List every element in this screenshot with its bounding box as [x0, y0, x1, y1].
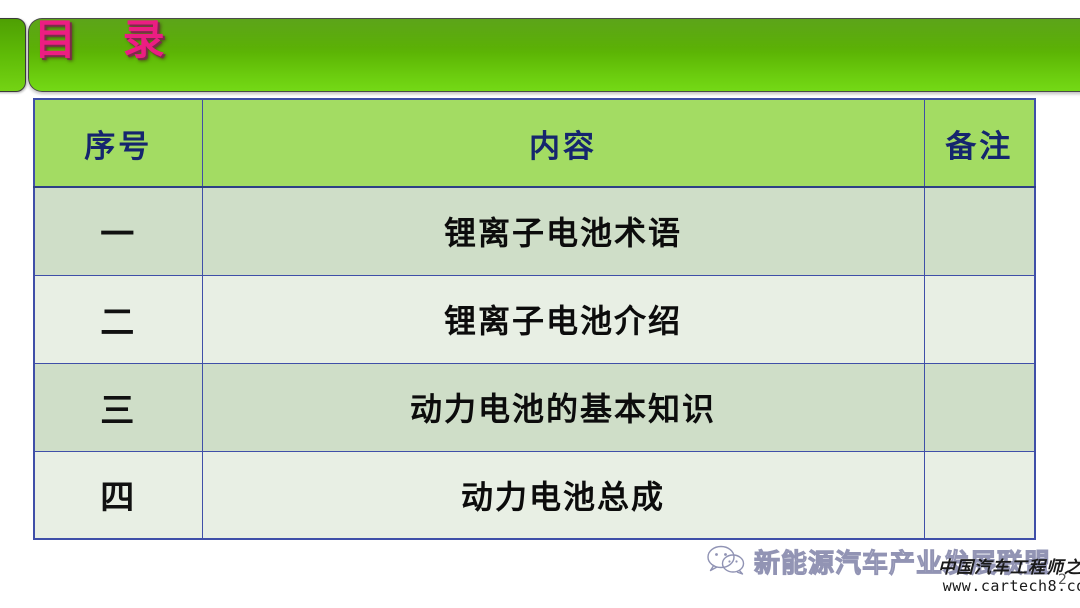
row-index: 一	[34, 187, 202, 275]
header-cell-index: 序号	[34, 99, 202, 187]
row-content: 动力电池的基本知识	[202, 363, 924, 451]
row-note	[924, 275, 1035, 363]
page-number: 2	[1058, 572, 1067, 588]
page-title: 目 录	[34, 6, 181, 67]
table-row[interactable]: 一 锂离子电池术语	[34, 187, 1035, 275]
slide-canvas: 目 录 序号 内容 备注 一 锂离子电池术语 二 锂离子电池介绍	[0, 0, 1080, 608]
row-content: 锂离子电池介绍	[202, 275, 924, 363]
row-note	[924, 363, 1035, 451]
header-cell-note: 备注	[924, 99, 1035, 187]
cartech-watermark: 中国汽车工程师之家 www.cartech8.com	[938, 560, 1080, 595]
header-cell-content: 内容	[202, 99, 924, 187]
banner-gloss	[29, 19, 1080, 53]
row-index: 四	[34, 451, 202, 539]
table-row[interactable]: 二 锂离子电池介绍	[34, 275, 1035, 363]
table-row[interactable]: 三 动力电池的基本知识	[34, 363, 1035, 451]
wechat-watermark-text: 新能源汽车产业发展联盟	[754, 543, 1051, 580]
cartech-watermark-cn: 中国汽车工程师之家	[938, 560, 1080, 578]
row-content: 锂离子电池术语	[202, 187, 924, 275]
cartech-watermark-url: www.cartech8.com	[938, 578, 1080, 595]
table-row[interactable]: 四 动力电池总成	[34, 451, 1035, 539]
title-banner	[28, 18, 1080, 92]
banner-left-tab	[0, 18, 26, 92]
row-index: 三	[34, 363, 202, 451]
row-note	[924, 451, 1035, 539]
wechat-icon	[706, 545, 746, 579]
row-index: 二	[34, 275, 202, 363]
row-note	[924, 187, 1035, 275]
row-content: 动力电池总成	[202, 451, 924, 539]
wechat-watermark: 新能源汽车产业发展联盟	[706, 543, 1051, 580]
toc-table: 序号 内容 备注 一 锂离子电池术语 二 锂离子电池介绍 三 动力电池的基本知识	[33, 98, 1036, 540]
table-header-row: 序号 内容 备注	[34, 99, 1035, 187]
